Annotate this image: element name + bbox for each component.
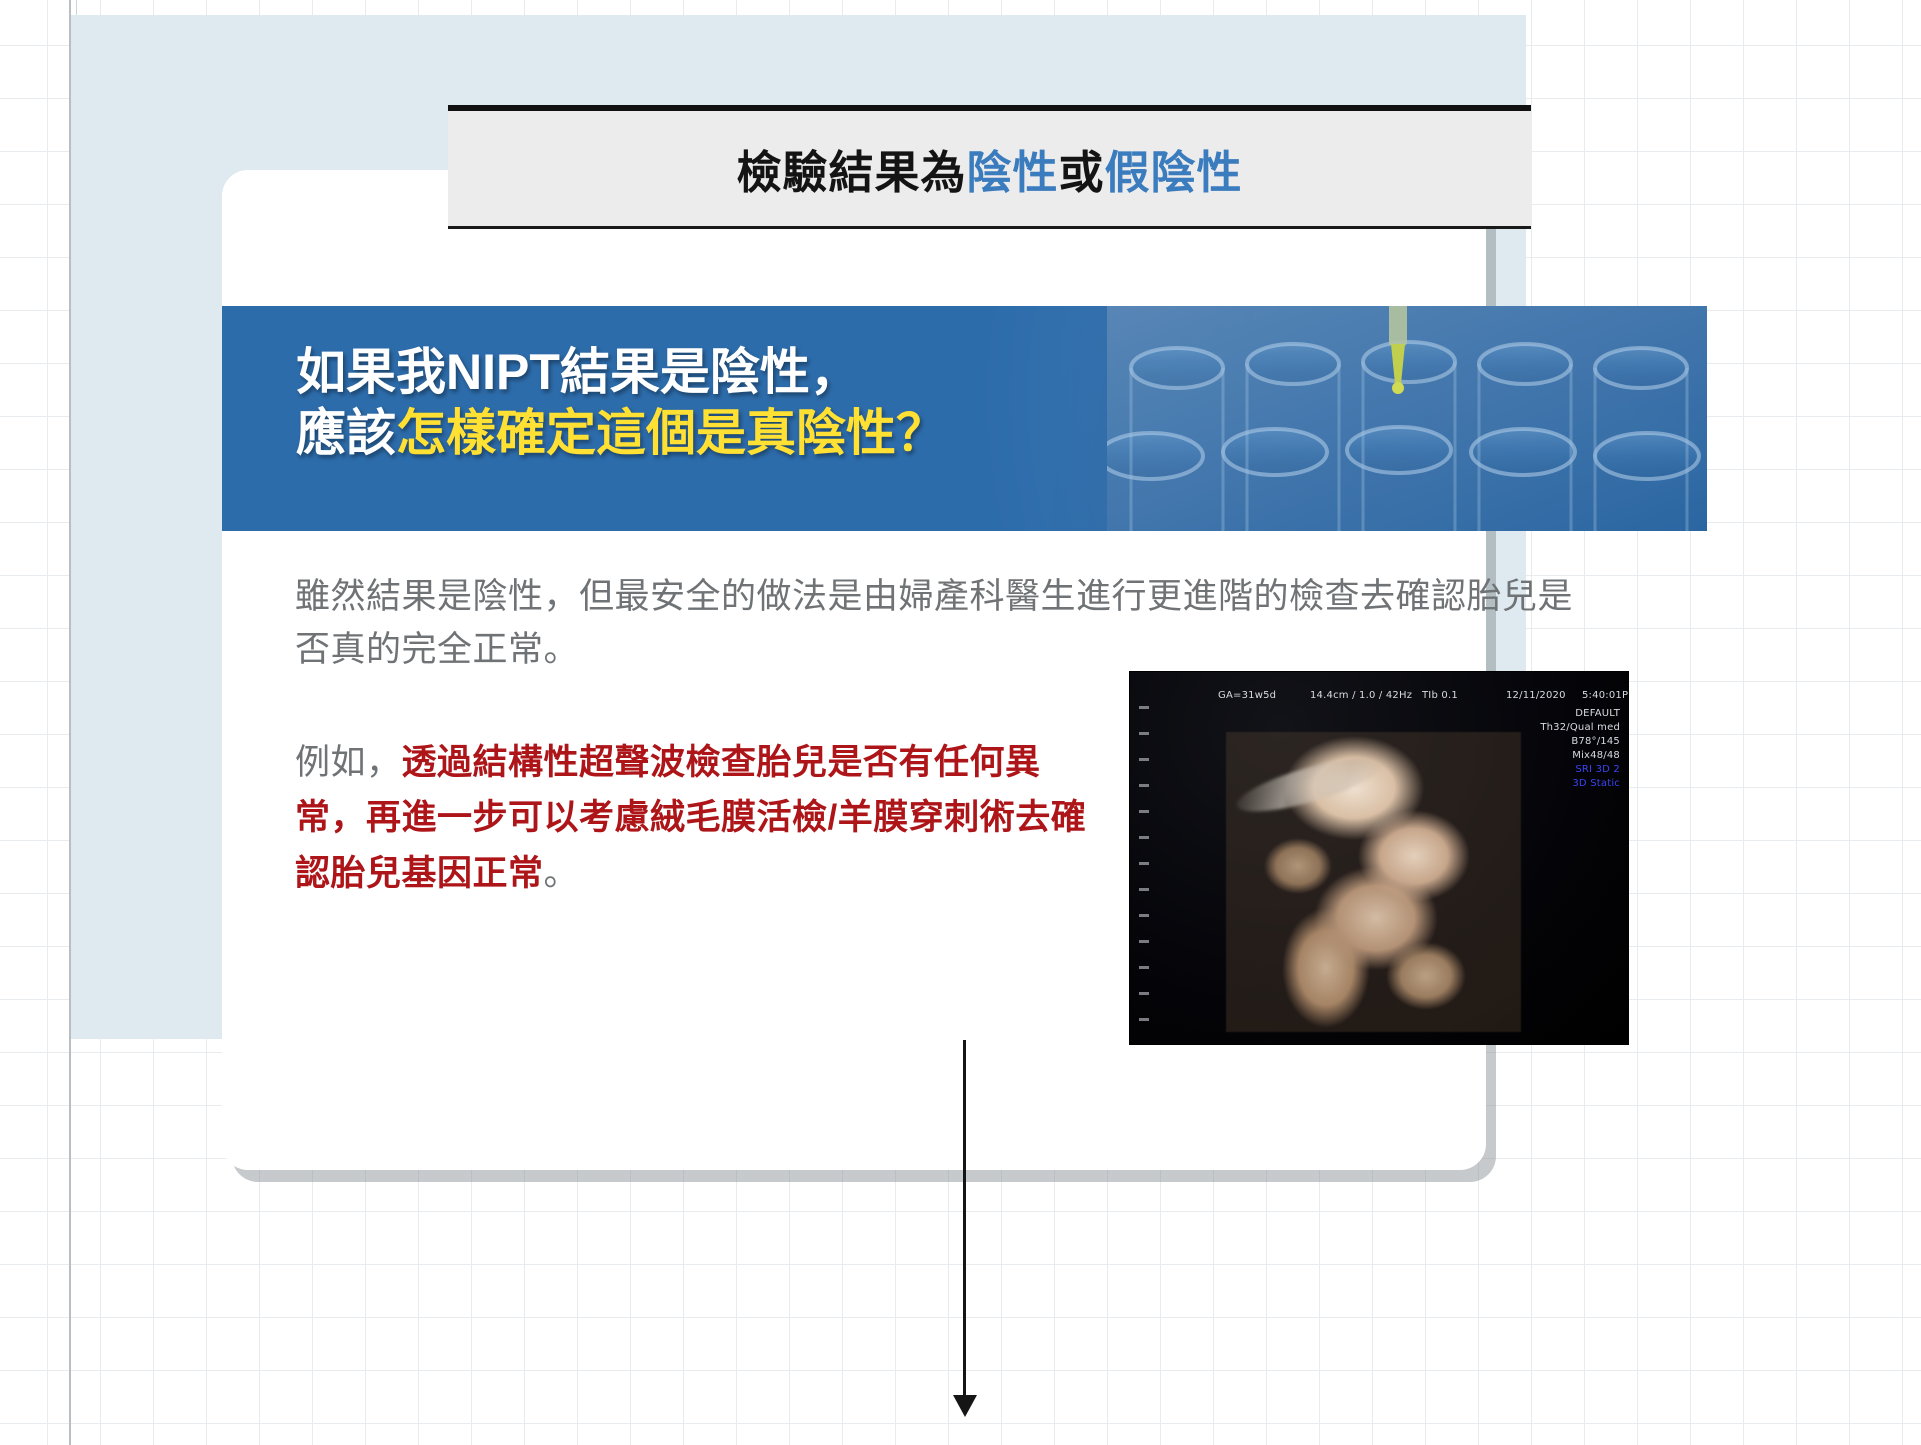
section-title-prefix: 檢驗結果為 [736, 147, 966, 198]
overlay-mix: Mix48/48 [1572, 750, 1620, 761]
example-emphasis: 透過結構性超聲波檢查胎兒是否有任何異常，再進一步可以考慮絨毛膜活檢/羊膜穿刺術去… [295, 743, 1086, 893]
banner-line2-yellow: 怎樣確定這個是真陰性？ [396, 405, 946, 461]
flow-arrow-line [963, 1040, 966, 1400]
banner-line2-white: 應該 [296, 405, 396, 461]
overlay-mode-render: 3D Static [1572, 778, 1620, 789]
ultrasound-fetus-render [1226, 732, 1521, 1032]
overlay-gestational-age: GA=31w5d [1218, 690, 1276, 701]
example-lead: 例如， [295, 743, 402, 782]
banner-heading-block: 如果我NIPT結果是陰性， 應該怎樣確定這個是真陰性？ [222, 306, 1707, 531]
ultrasound-depth-scale [1139, 706, 1153, 1026]
ultrasound-overlay-top-row: GA=31w5d 14.4cm / 1.0 / 42Hz TIb 0.1 12/… [1130, 690, 1628, 704]
section-title-ribbon: 檢驗結果為陰性或假陰性 [448, 105, 1531, 229]
fetal-3d-ultrasound-image: GA=31w5d 14.4cm / 1.0 / 42Hz TIb 0.1 12/… [1130, 672, 1628, 1044]
test-tubes-pipette-photo [1107, 306, 1707, 531]
flow-arrow-head [953, 1395, 977, 1417]
banner-line1-white: 如果我NIPT結果是陰性， [296, 344, 860, 400]
body-paragraph-gray: 雖然結果是陰性，但最安全的做法是由婦產科醫生進行更進階的檢查去確認胎兒是否真的完… [295, 570, 1605, 676]
section-title-highlight-2: 假陰性 [1105, 147, 1243, 198]
overlay-mode-sri: SRI 3D 2 [1575, 764, 1620, 775]
banner-heading-line-2: 應該怎樣確定這個是真陰性？ [296, 403, 946, 464]
banner-heading-line-1: 如果我NIPT結果是陰性， [296, 342, 946, 403]
overlay-time: 5:40:01PM [1582, 690, 1628, 701]
overlay-quality: Th32/Qual med [1540, 722, 1620, 733]
banner-heading-text: 如果我NIPT結果是陰性， 應該怎樣確定這個是真陰性？ [296, 342, 946, 464]
example-tail: 。 [544, 854, 580, 893]
section-title-text: 檢驗結果為陰性或假陰性 [736, 150, 1242, 195]
overlay-preset: DEFAULT [1575, 708, 1620, 719]
body-paragraph-example: 例如，透過結構性超聲波檢查胎兒是否有任何異常，再進一步可以考慮絨毛膜活檢/羊膜穿… [295, 735, 1105, 901]
overlay-thermal-index: TIb 0.1 [1422, 690, 1458, 701]
section-title-middle: 或 [1059, 147, 1105, 198]
overlay-depth-freq: 14.4cm / 1.0 / 42Hz [1310, 690, 1412, 701]
overlay-brightness: B78°/145 [1571, 736, 1620, 747]
overlay-date: 12/11/2020 [1506, 690, 1566, 701]
section-title-highlight-1: 陰性 [966, 147, 1058, 198]
